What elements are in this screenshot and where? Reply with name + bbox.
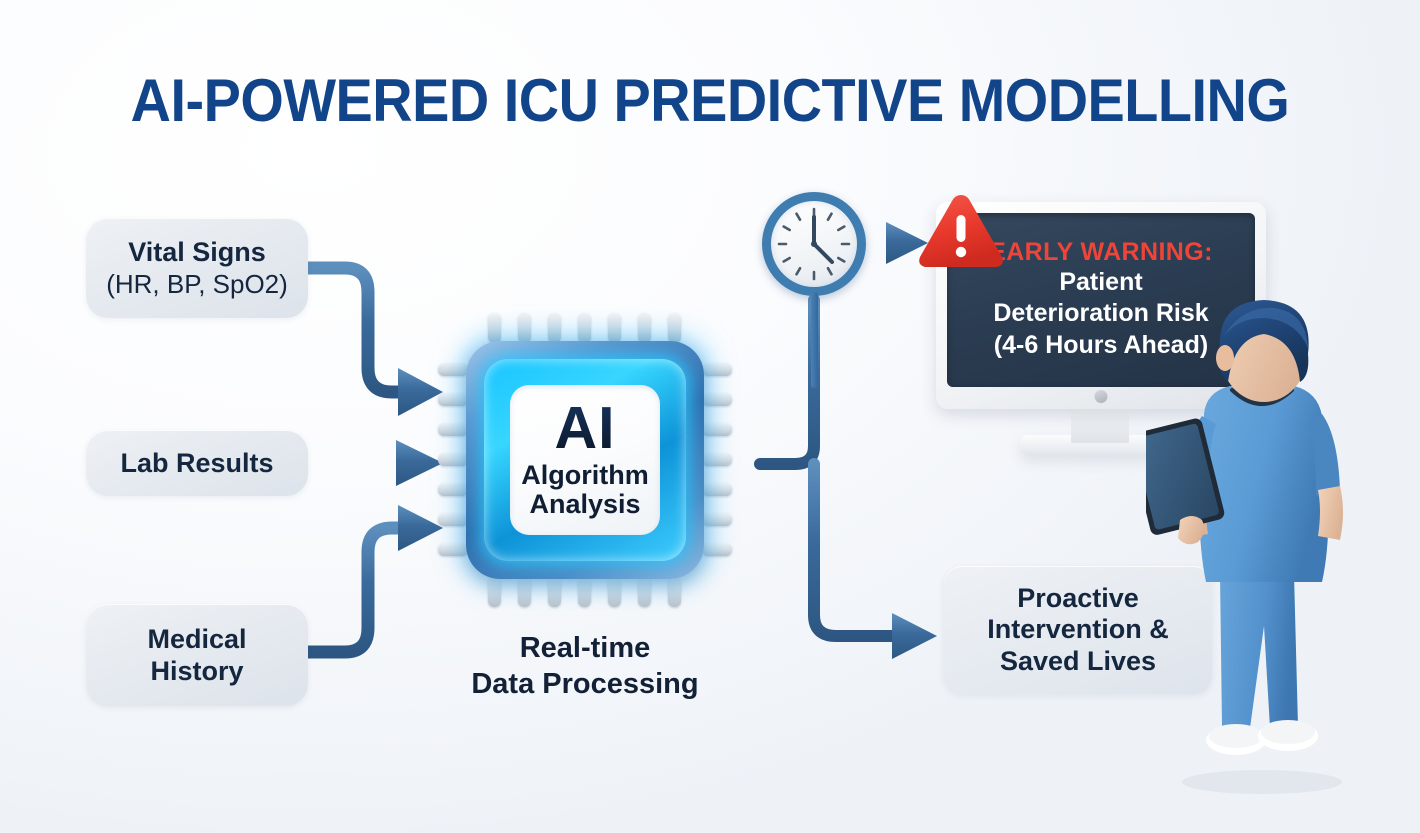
chip-pin-icon	[702, 393, 732, 406]
chip-pin-icon	[548, 577, 561, 607]
clock-stem	[811, 292, 818, 388]
chip-pin-icon	[668, 313, 681, 343]
chip-pin-icon	[702, 543, 732, 556]
chip-pin-icon	[702, 513, 732, 526]
scrub-trousers	[1220, 574, 1298, 728]
chip-line2: Analysis	[529, 490, 640, 520]
arrow-vitals-to-chip	[308, 268, 443, 416]
input-card-medical-history[interactable]: Medical History	[86, 604, 308, 706]
chip-die: AI Algorithm Analysis	[510, 385, 660, 535]
input-card-title: Vital Signs	[128, 237, 266, 267]
chip-caption: Real-time Data Processing	[446, 630, 724, 703]
lead-time-clock-icon	[762, 192, 866, 296]
chip-pin-icon	[638, 313, 651, 343]
chip-pin-icon	[608, 577, 621, 607]
monitor-power-button[interactable]	[1095, 390, 1108, 403]
chip-pin-icon	[668, 577, 681, 607]
outcome-line1: Proactive	[1017, 583, 1139, 614]
chip-pin-icon	[438, 543, 468, 556]
input-card-title-line2: History	[150, 656, 243, 686]
chip-pin-icon	[438, 513, 468, 526]
early-warning-label: EARLY WARNING:	[989, 239, 1213, 267]
ear	[1216, 345, 1234, 371]
chip-pin-icon	[438, 393, 468, 406]
arrow-to-outcome	[892, 613, 937, 659]
arrow-lab-to-chip	[308, 440, 443, 486]
chip-pin-icon	[702, 363, 732, 376]
chip-pin-icon	[438, 483, 468, 496]
chip-pin-icon	[702, 483, 732, 496]
clinician-figure	[1146, 296, 1376, 796]
chip-pin-icon	[518, 577, 531, 607]
right-arm	[1318, 486, 1343, 540]
input-card-subtitle: (HR, BP, SpO2)	[106, 270, 288, 299]
chip-pin-icon	[702, 423, 732, 436]
alert-triangle-icon	[915, 191, 1007, 273]
chip-caption-line1: Real-time	[446, 630, 724, 666]
chip-pin-icon	[438, 423, 468, 436]
left-hand	[1178, 516, 1204, 544]
arrow-history-to-chip	[308, 505, 443, 652]
outcome-line2: Intervention &	[987, 614, 1169, 645]
chip-caption-line2: Data Processing	[446, 666, 724, 702]
infographic-canvas: AI-POWERED ICU PREDICTIVE MODELLING	[0, 0, 1420, 833]
input-card-vital-signs[interactable]: Vital Signs (HR, BP, SpO2)	[86, 218, 308, 318]
input-card-lab-results[interactable]: Lab Results	[86, 430, 308, 496]
outcome-line3: Saved Lives	[1000, 646, 1156, 677]
arrow-chip-output-trunk	[760, 300, 900, 636]
input-card-title: Lab Results	[120, 448, 273, 478]
chip-pin-icon	[438, 363, 468, 376]
chip-pin-icon	[702, 453, 732, 466]
chip-pin-icon	[438, 453, 468, 466]
chip-ai-label: AI	[555, 400, 616, 457]
chip-pin-icon	[578, 313, 591, 343]
chip-glow-ring: AI Algorithm Analysis	[484, 359, 686, 561]
chip-line1: Algorithm	[521, 461, 649, 491]
scrub-top	[1200, 386, 1329, 582]
chip-pin-icon	[488, 313, 501, 343]
chip-body: AI Algorithm Analysis	[466, 341, 704, 579]
figure-shadow	[1182, 770, 1342, 794]
ai-processor-chip[interactable]: AI Algorithm Analysis	[466, 341, 704, 579]
chip-pin-icon	[578, 577, 591, 607]
input-card-title: Medical	[147, 624, 246, 654]
chip-pin-icon	[548, 313, 561, 343]
chip-pin-icon	[488, 577, 501, 607]
clock-hands	[762, 192, 866, 296]
chip-pin-icon	[638, 577, 651, 607]
chip-pin-icon	[518, 313, 531, 343]
monitor-line1: Patient	[1059, 267, 1142, 299]
monitor-neck	[1071, 409, 1129, 443]
chip-pin-icon	[608, 313, 621, 343]
